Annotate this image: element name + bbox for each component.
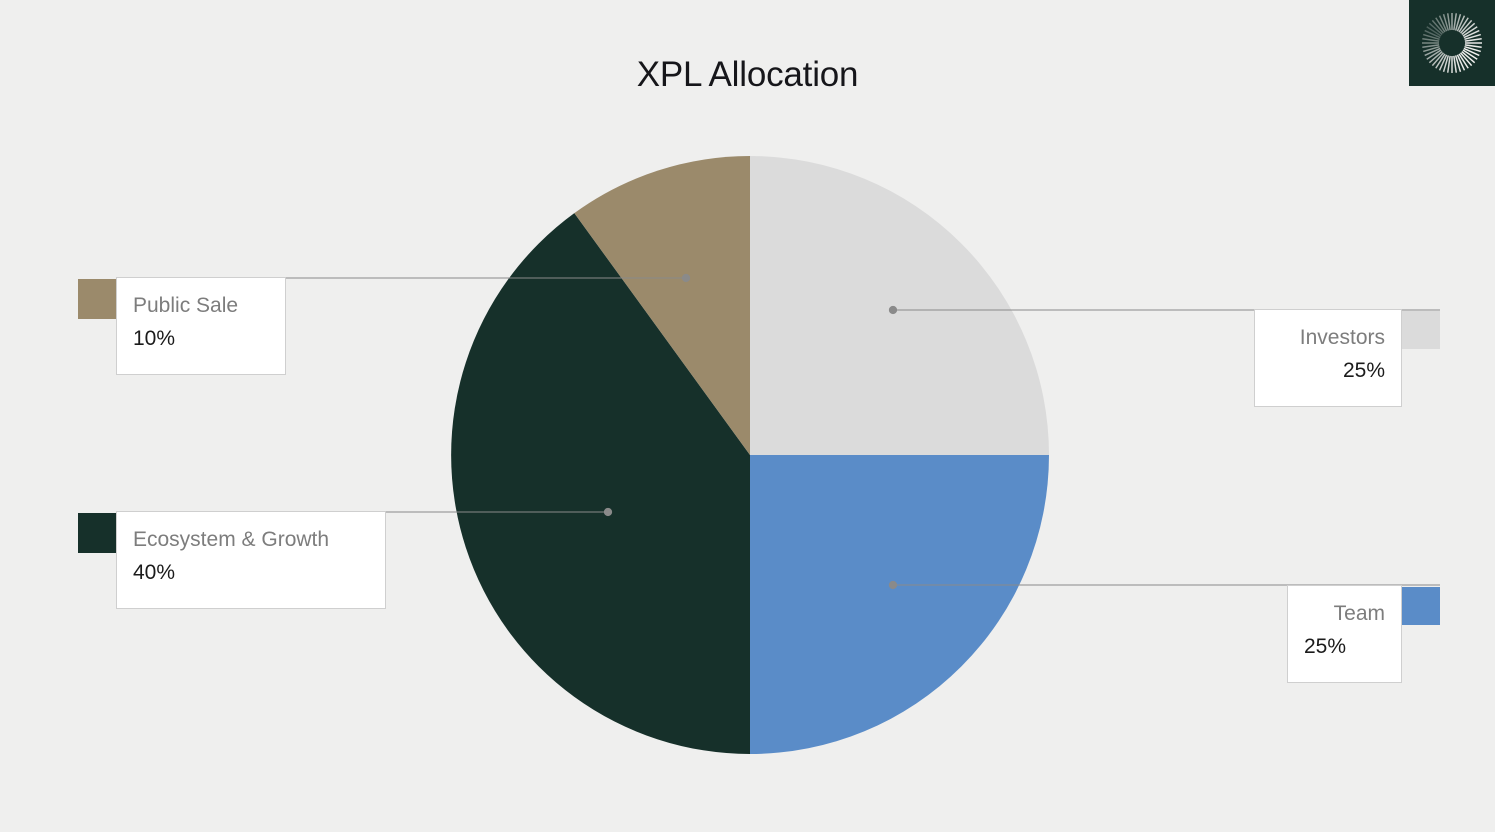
pie-slice-team[interactable] bbox=[750, 455, 1049, 754]
callout-team[interactable]: Team 25% bbox=[1287, 585, 1402, 683]
callout-ecosystem-growth[interactable]: Ecosystem & Growth 40% bbox=[116, 511, 386, 609]
leader-dot-investors bbox=[889, 306, 896, 313]
legend-swatch-investors bbox=[1402, 311, 1440, 349]
pie-chart bbox=[0, 0, 1495, 832]
leader-dot-ecosystem-growth bbox=[604, 508, 611, 515]
callout-investors[interactable]: Investors 25% bbox=[1254, 309, 1402, 407]
pie-slice-investors[interactable] bbox=[750, 156, 1049, 455]
callout-label-public-sale: Public Sale bbox=[133, 292, 269, 319]
legend-swatch-public-sale bbox=[78, 279, 118, 319]
legend-swatch-ecosystem-growth bbox=[78, 513, 118, 553]
leader-dot-team bbox=[889, 581, 896, 588]
callout-value-ecosystem-growth: 40% bbox=[133, 558, 369, 588]
callout-value-investors: 25% bbox=[1271, 356, 1385, 386]
legend-swatch-team bbox=[1402, 587, 1440, 625]
callout-value-public-sale: 10% bbox=[133, 324, 269, 354]
callout-label-team: Team bbox=[1304, 600, 1385, 627]
callout-label-investors: Investors bbox=[1271, 324, 1385, 351]
callout-value-team: 25% bbox=[1304, 632, 1385, 662]
callout-public-sale[interactable]: Public Sale 10% bbox=[116, 277, 286, 375]
slide-canvas: XPL Allocation Public Sa bbox=[0, 0, 1495, 832]
callout-label-ecosystem-growth: Ecosystem & Growth bbox=[133, 526, 369, 553]
leader-dot-public-sale bbox=[682, 274, 689, 281]
